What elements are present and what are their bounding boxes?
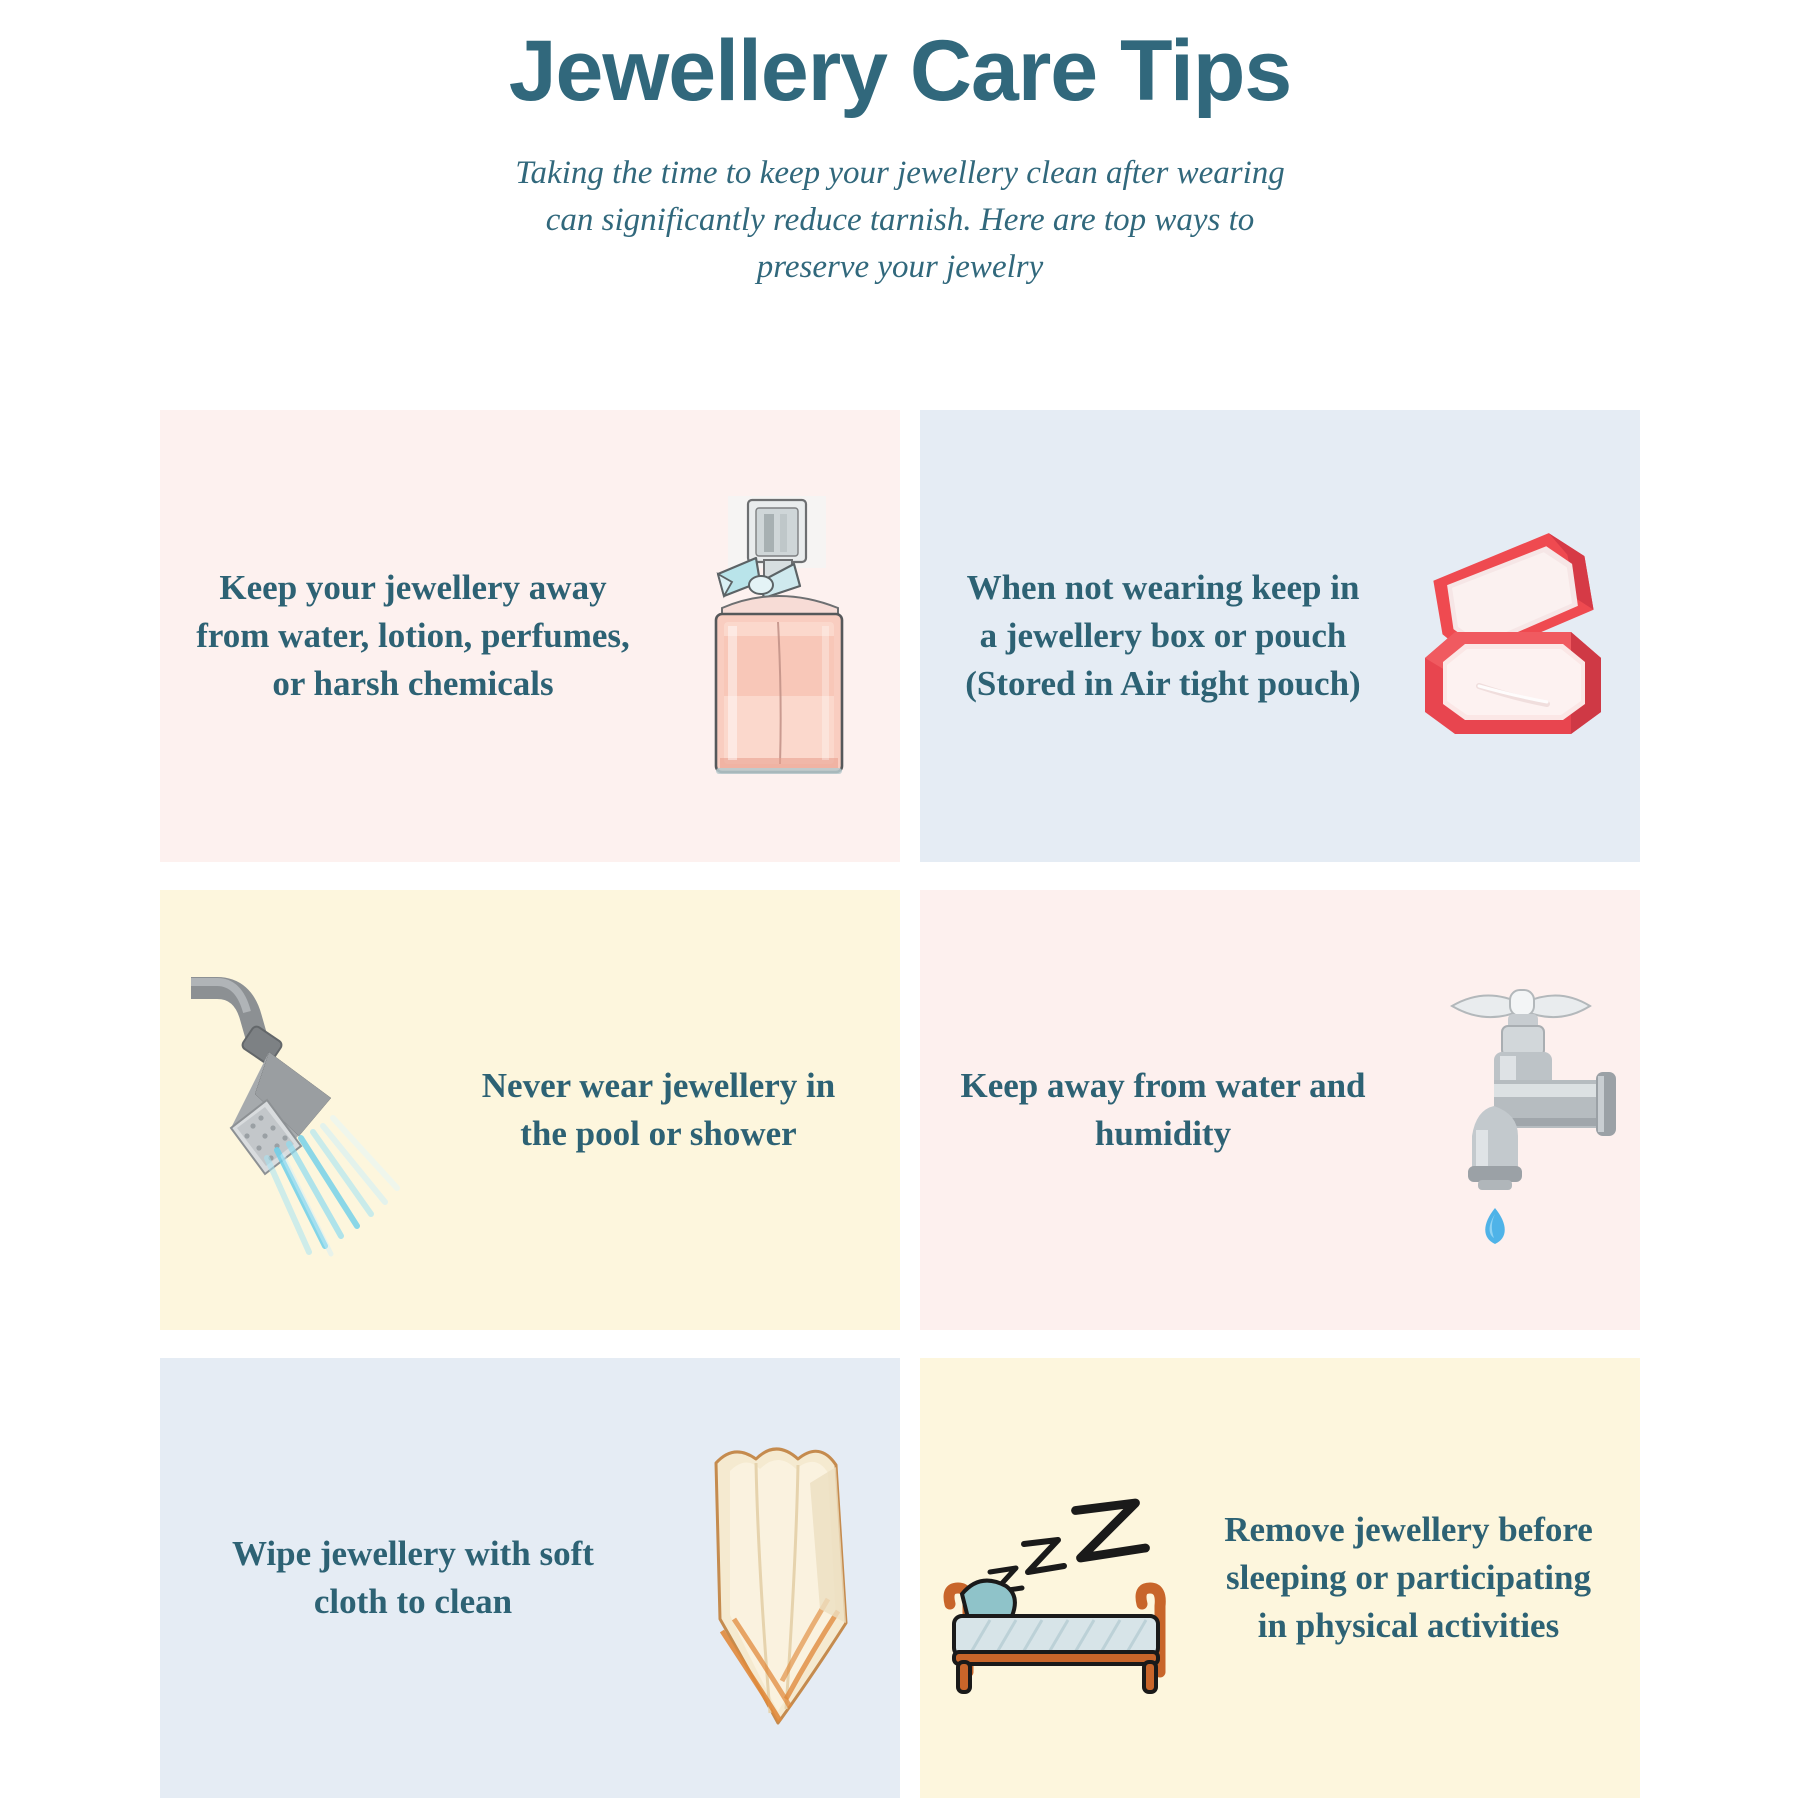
tip-card-5: Wipe jewellery with soft cloth to clean <box>160 1358 900 1798</box>
page-subtitle: Taking the time to keep your jewellery c… <box>510 150 1290 291</box>
shower-head-icon <box>160 960 445 1260</box>
header: Jewellery Care Tips Taking the time to k… <box>0 0 1800 291</box>
tip-card-6: Remove jewellery before sleeping or part… <box>920 1358 1640 1798</box>
perfume-bottle-icon <box>650 486 900 786</box>
polishing-cloth-icon <box>650 1423 900 1733</box>
bed-sleep-icon <box>920 1448 1205 1708</box>
tips-grid: Keep your jewellery away from water, lot… <box>160 410 1638 1798</box>
page-title: Jewellery Care Tips <box>0 26 1800 116</box>
tip-card-4-text: Keep away from water and humidity <box>920 1062 1390 1159</box>
tip-card-1-text: Keep your jewellery away from water, lot… <box>160 564 650 709</box>
jewellery-box-icon <box>1390 516 1640 756</box>
tip-card-4: Keep away from water and humidity <box>920 890 1640 1330</box>
tip-card-6-text: Remove jewellery before sleeping or part… <box>1205 1506 1640 1651</box>
infographic-page: Jewellery Care Tips Taking the time to k… <box>0 0 1800 1800</box>
tip-card-3: Never wear jewellery in the pool or show… <box>160 890 900 1330</box>
faucet-icon <box>1390 960 1640 1260</box>
tip-card-2: When not wearing keep in a jewellery box… <box>920 410 1640 862</box>
tip-card-1: Keep your jewellery away from water, lot… <box>160 410 900 862</box>
tip-card-5-text: Wipe jewellery with soft cloth to clean <box>160 1530 650 1627</box>
tip-card-3-text: Never wear jewellery in the pool or show… <box>445 1062 900 1159</box>
tip-card-2-text: When not wearing keep in a jewellery box… <box>920 564 1390 709</box>
